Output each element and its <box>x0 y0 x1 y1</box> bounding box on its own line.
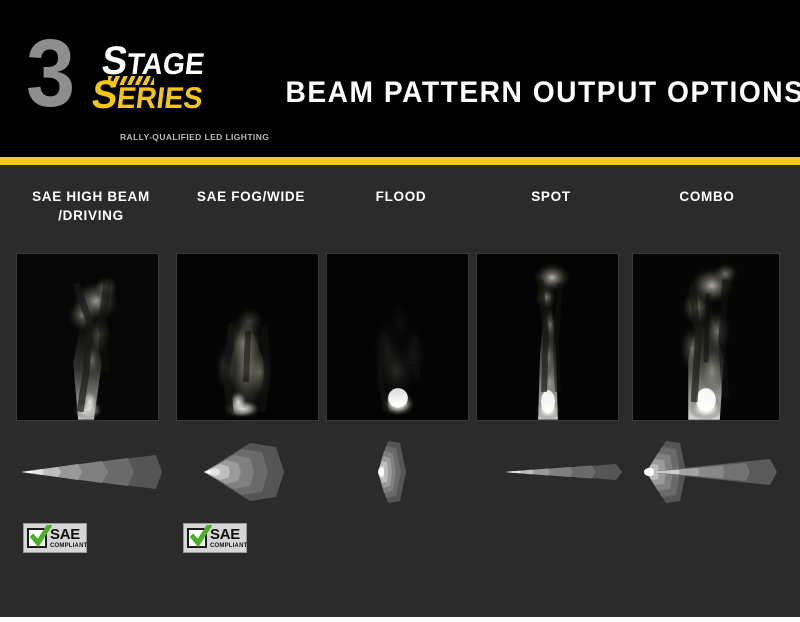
column-label: SAE FOG/WIDE <box>170 187 332 206</box>
beam-column-sae-high-beam-driving: SAE HIGH BEAM /DRIVING <box>16 165 166 617</box>
column-label-line2: /DRIVING <box>58 208 124 223</box>
beam-photo-flood <box>326 253 469 421</box>
beam-pattern-grid: SAE HIGH BEAM /DRIVING <box>0 165 800 617</box>
column-label-line1: SPOT <box>531 189 571 204</box>
sae-badge-sub: COMPLIANT <box>50 543 87 549</box>
column-label-line1: SAE HIGH BEAM <box>32 189 150 204</box>
sae-checkbox <box>187 528 207 548</box>
logo-tagline: RALLY-QUALIFIED LED LIGHTING <box>120 132 269 142</box>
beam-diagram-spot <box>476 437 626 507</box>
beam-column-spot: SPOT <box>476 165 626 617</box>
column-label: SPOT <box>470 187 632 206</box>
beam-diagram-flood <box>326 437 476 507</box>
beam-photo-spot <box>476 253 619 421</box>
night-road-photo-svg <box>633 254 779 420</box>
night-road-photo-svg <box>177 254 318 420</box>
column-label: FLOOD <box>320 187 482 206</box>
sae-badge-main: SAE <box>210 527 247 542</box>
beam-cone-svg <box>16 437 166 507</box>
column-label-line1: SAE FOG/WIDE <box>197 189 305 204</box>
beam-diagram-combo <box>632 437 782 507</box>
sae-badge-text: SAE COMPLIANT <box>210 527 247 549</box>
beam-column-combo: COMBO <box>632 165 782 617</box>
logo-word-series: SERIES <box>90 80 205 114</box>
sae-badge-text: SAE COMPLIANT <box>50 527 87 549</box>
sae-badge-sub: COMPLIANT <box>210 543 247 549</box>
beam-diagram-sae-high-beam-driving <box>16 437 166 507</box>
green-check-icon <box>190 525 212 549</box>
beam-pattern-infographic: 3 STAGE SERIES RALLY-QUALIFIED LED LIGHT… <box>0 0 800 622</box>
beam-photo-sae-fog-wide <box>176 253 319 421</box>
logo-series-rest: ERIES <box>115 82 205 115</box>
header-bar: 3 STAGE SERIES RALLY-QUALIFIED LED LIGHT… <box>0 0 800 157</box>
green-check-icon <box>30 525 52 549</box>
column-label-line1: COMBO <box>679 189 734 204</box>
logo-numeral-3: 3 <box>26 26 71 122</box>
sae-checkbox <box>27 528 47 548</box>
beam-cone-svg <box>176 437 326 507</box>
stage-series-logo: 3 STAGE SERIES RALLY-QUALIFIED LED LIGHT… <box>26 24 241 134</box>
sae-compliant-badge: SAE COMPLIANT <box>183 523 247 553</box>
sae-compliant-badge: SAE COMPLIANT <box>23 523 87 553</box>
column-label: COMBO <box>626 187 788 206</box>
beam-cone-svg <box>476 437 626 507</box>
sae-badge-main: SAE <box>50 527 87 542</box>
night-road-photo-svg <box>327 254 468 420</box>
beam-column-sae-fog-wide: SAE FOG/WIDE <box>176 165 326 617</box>
beam-diagram-sae-fog-wide <box>176 437 326 507</box>
night-road-photo-svg <box>477 254 618 420</box>
footer-strip <box>0 617 800 622</box>
beam-cone-svg <box>326 437 476 507</box>
beam-photo-sae-high-beam-driving <box>16 253 159 421</box>
beam-cone-svg <box>632 437 782 507</box>
accent-divider <box>0 157 800 165</box>
beam-column-flood: FLOOD <box>326 165 476 617</box>
beam-photo-combo <box>632 253 780 421</box>
page-title: BEAM PATTERN OUTPUT OPTIONS <box>285 76 770 110</box>
logo-stage-rest: TAGE <box>125 48 206 81</box>
column-label: SAE HIGH BEAM /DRIVING <box>6 187 176 225</box>
column-label-line1: FLOOD <box>376 189 427 204</box>
night-road-photo-svg <box>17 254 158 420</box>
